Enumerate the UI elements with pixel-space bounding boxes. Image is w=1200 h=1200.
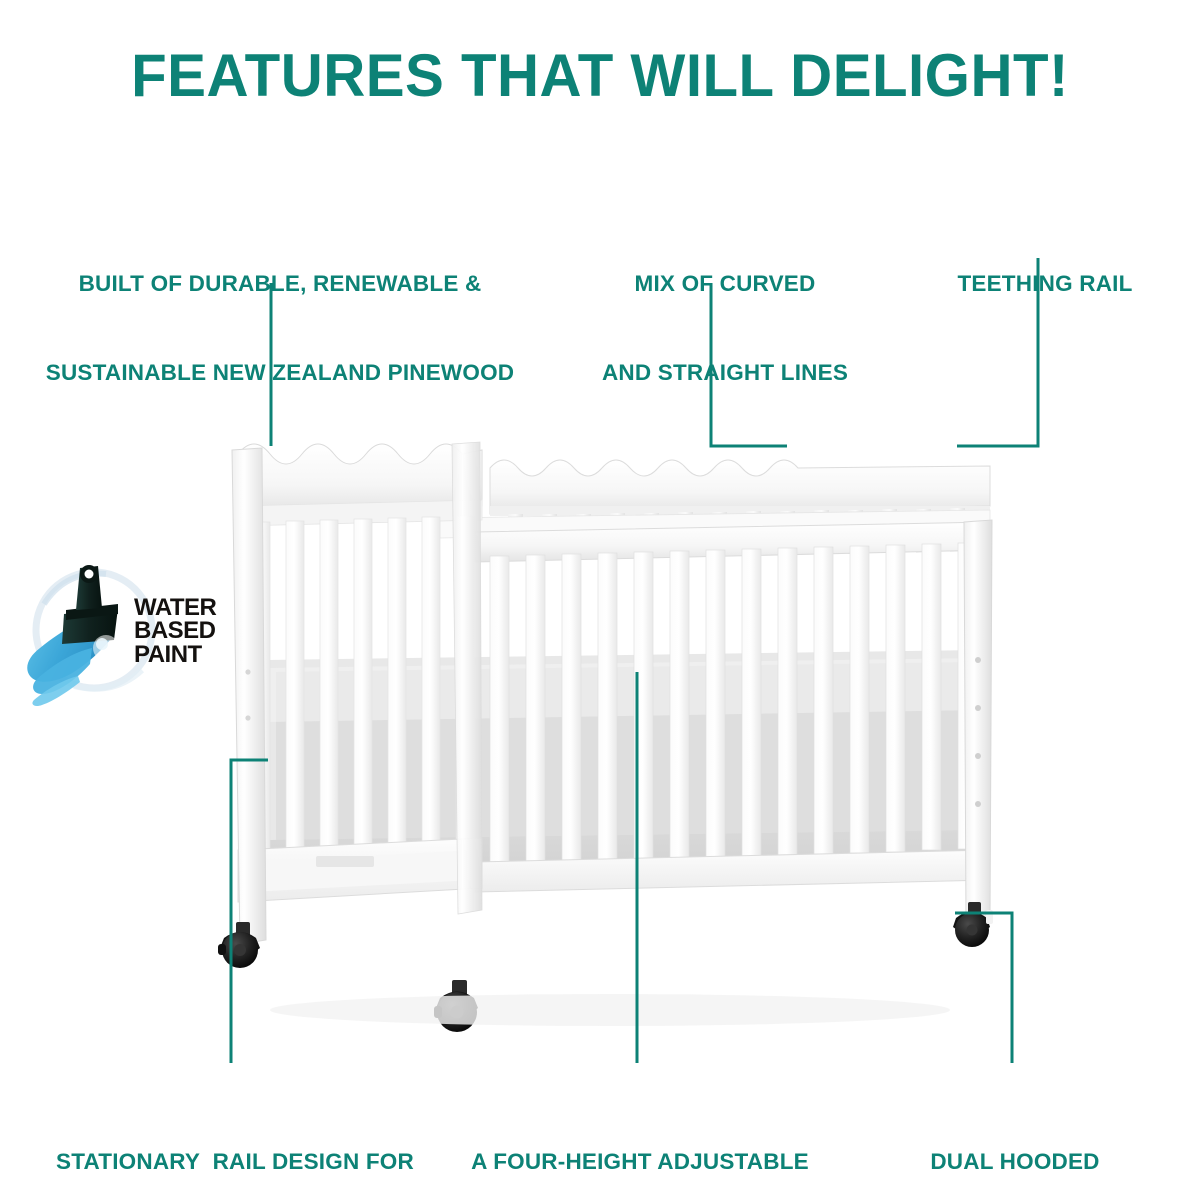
callout-wheels-line1: DUAL HOODED xyxy=(830,1147,1200,1177)
infographic-page: FEATURES THAT WILL DELIGHT! xyxy=(0,0,1200,1200)
badge-line-3: PAINT xyxy=(134,643,216,666)
callout-pinewood: BUILT OF DURABLE, RENEWABLE & SUSTAINABL… xyxy=(10,210,550,448)
callout-teething-line1: TEETHING RAIL xyxy=(895,269,1195,299)
page-title: FEATURES THAT WILL DELIGHT! xyxy=(18,44,1182,107)
callout-stationary: STATIONARY RAIL DESIGN FOR ADDED SECURIT… xyxy=(20,1088,450,1200)
callout-teething: TEETHING RAIL xyxy=(895,210,1195,358)
badge-label: WATER BASED PAINT xyxy=(134,596,216,666)
callout-mattress: A FOUR-HEIGHT ADJUSTABLE MATTRESS SETTIN… xyxy=(440,1088,840,1200)
crib-headboard xyxy=(238,444,482,526)
callout-mattress-line1: A FOUR-HEIGHT ADJUSTABLE xyxy=(440,1147,840,1177)
callout-curved-line1: MIX OF CURVED xyxy=(575,269,875,299)
callout-curved: MIX OF CURVED AND STRAIGHT LINES xyxy=(575,210,875,448)
badge-line-2: BASED xyxy=(134,619,216,642)
badge-line-1: WATER xyxy=(134,596,216,619)
callout-wheels: DUAL HOODED SAFETY-LOCKING WHEELS xyxy=(830,1088,1200,1200)
crib-illustration xyxy=(190,410,1030,1050)
callout-pinewood-line1: BUILT OF DURABLE, RENEWABLE & xyxy=(10,269,550,299)
callout-pinewood-line2: SUSTAINABLE NEW ZEALAND PINEWOOD xyxy=(10,358,550,388)
callout-stationary-line1: STATIONARY RAIL DESIGN FOR xyxy=(20,1147,450,1177)
water-based-paint-badge: WATER BASED PAINT xyxy=(22,552,220,712)
callout-curved-line2: AND STRAIGHT LINES xyxy=(575,358,875,388)
